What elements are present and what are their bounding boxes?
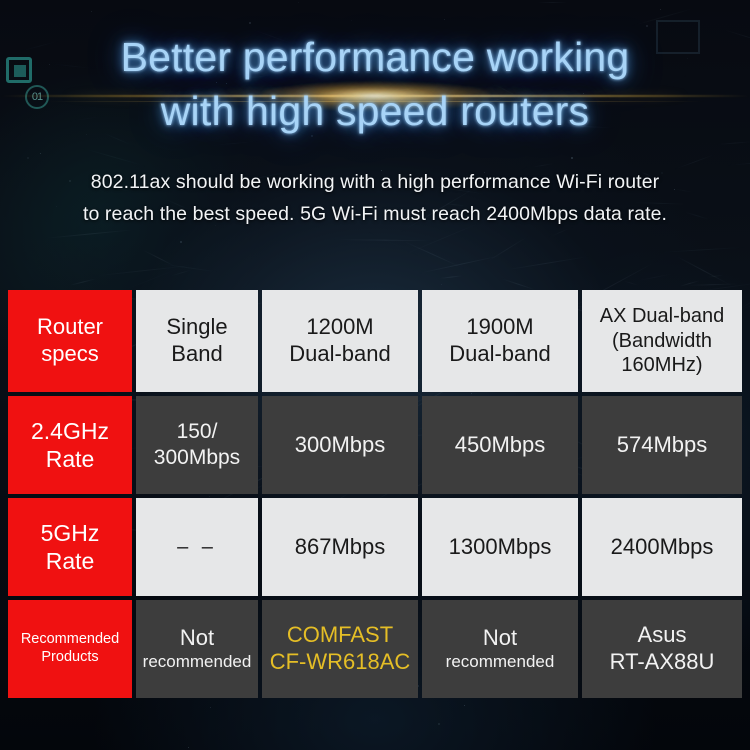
header-col-2-line-2: Dual-band: [289, 341, 391, 368]
subtitle-line-2: to reach the best speed. 5G Wi-Fi must r…: [0, 198, 750, 230]
table-cell-r2c2: Not recommended: [422, 600, 578, 698]
header-col-2-line-1: 1200M: [306, 314, 373, 341]
cell-r1c3-line-1: 2400Mbps: [611, 534, 714, 561]
table-header-col-2: 1200M Dual-band: [262, 290, 418, 392]
table-cell-r0c1: 300Mbps: [262, 396, 418, 494]
table-header-col-4: AX Dual-band (Bandwidth 160MHz): [582, 290, 742, 392]
table-cell-r0c0: 150/ 300Mbps: [136, 396, 258, 494]
subtitle-line-1: 802.11ax should be working with a high p…: [0, 166, 750, 198]
table-cell-r1c2: 1300Mbps: [422, 498, 578, 596]
page-title-line-2: with high speed routers: [0, 86, 750, 136]
cell-r0c0-line-1: 150/: [177, 419, 218, 445]
row-1-label-line-1: 5GHz: [41, 519, 100, 547]
table-cell-r0c2: 450Mbps: [422, 396, 578, 494]
header-col-1-line-1: Single: [166, 314, 227, 341]
header-col-3-line-1: 1900M: [466, 314, 533, 341]
row-0-label-line-2: Rate: [46, 445, 95, 473]
cell-r2c2-line-1: Not: [483, 625, 517, 652]
row-1-label-line-2: Rate: [46, 547, 95, 575]
cell-r2c3-line-1: Asus: [638, 622, 687, 649]
cell-r2c0-line-1: Not: [180, 625, 214, 652]
header-col-1-line-2: Band: [171, 341, 222, 368]
table-cell-r2c1-comfast: COMFAST CF-WR618AC: [262, 600, 418, 698]
hero-subtitle: 802.11ax should be working with a high p…: [0, 166, 750, 230]
cell-r0c3-line-1: 574Mbps: [617, 432, 708, 459]
header-label-line-2: specs: [41, 341, 98, 368]
table-cell-r0c3: 574Mbps: [582, 396, 742, 494]
header-col-3-line-2: Dual-band: [449, 341, 551, 368]
router-specs-comparison-table: Router specs Single Band 1200M Dual-band…: [8, 290, 742, 692]
cell-r0c1-line-1: 300Mbps: [295, 432, 386, 459]
row-0-label-line-1: 2.4GHz: [31, 417, 109, 445]
cell-r2c3-line-2: RT-AX88U: [610, 649, 715, 676]
table-cell-r2c3: Asus RT-AX88U: [582, 600, 742, 698]
row-label-5ghz: 5GHz Rate: [8, 498, 132, 596]
cell-r1c0-line-1: – –: [177, 535, 217, 559]
row-2-label-line-1: Recommended: [21, 631, 119, 649]
cell-r0c2-line-1: 450Mbps: [455, 432, 546, 459]
cell-r2c1-line-1: COMFAST: [287, 622, 393, 649]
row-label-recommended-products: Recommended Products: [8, 600, 132, 698]
cell-r1c1-line-1: 867Mbps: [295, 534, 386, 561]
table-cell-r1c0: – –: [136, 498, 258, 596]
header-label-line-1: Router: [37, 314, 103, 341]
table-header-col-1: Single Band: [136, 290, 258, 392]
cell-r2c2-line-2: recommended: [446, 652, 555, 673]
cell-r2c1-line-2: CF-WR618AC: [270, 649, 411, 676]
header-col-4-line-1: AX Dual-band: [600, 304, 725, 328]
hero-heading-block: Better performance working with high spe…: [0, 0, 750, 230]
table-cell-r1c1: 867Mbps: [262, 498, 418, 596]
row-2-label-line-2: Products: [41, 649, 98, 667]
header-col-4-line-3: 160MHz): [621, 353, 702, 377]
header-col-4-line-2: (Bandwidth: [612, 329, 712, 353]
table-header-col-3: 1900M Dual-band: [422, 290, 578, 392]
table-cell-r1c3: 2400Mbps: [582, 498, 742, 596]
row-label-2-4ghz: 2.4GHz Rate: [8, 396, 132, 494]
table-cell-r2c0: Not recommended: [136, 600, 258, 698]
cell-r0c0-line-2: 300Mbps: [154, 445, 240, 471]
cell-r2c0-line-2: recommended: [143, 652, 252, 673]
cell-r1c2-line-1: 1300Mbps: [449, 534, 552, 561]
page-title-line-1: Better performance working: [0, 32, 750, 82]
table-header-row-label: Router specs: [8, 290, 132, 392]
